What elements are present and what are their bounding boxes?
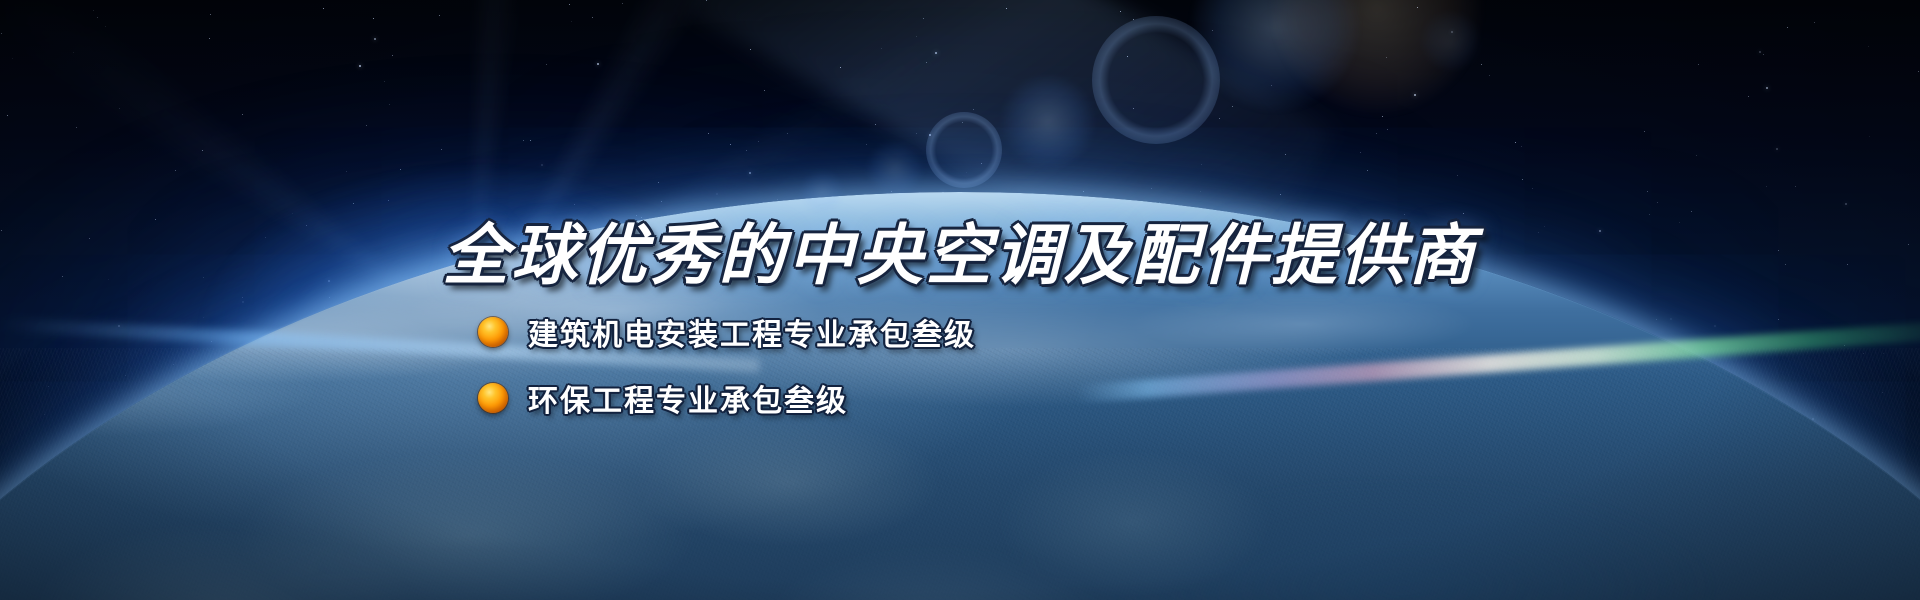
bullet-label: 建筑机电安装工程专业承包叁级 bbox=[528, 310, 976, 354]
orange-sphere-bullet-icon bbox=[478, 383, 508, 413]
bullet-item: 环保工程专业承包叁级 bbox=[478, 376, 976, 420]
banner-content: 全球优秀的中央空调及配件提供商 建筑机电安装工程专业承包叁级 环保工程专业承包叁… bbox=[0, 0, 1920, 600]
banner-headline: 全球优秀的中央空调及配件提供商 bbox=[0, 202, 1920, 298]
bullet-item: 建筑机电安装工程专业承包叁级 bbox=[478, 310, 976, 354]
bullet-label: 环保工程专业承包叁级 bbox=[528, 376, 848, 420]
hero-banner: 全球优秀的中央空调及配件提供商 建筑机电安装工程专业承包叁级 环保工程专业承包叁… bbox=[0, 0, 1920, 600]
orange-sphere-bullet-icon bbox=[478, 317, 508, 347]
banner-bullet-list: 建筑机电安装工程专业承包叁级 环保工程专业承包叁级 bbox=[478, 310, 976, 420]
